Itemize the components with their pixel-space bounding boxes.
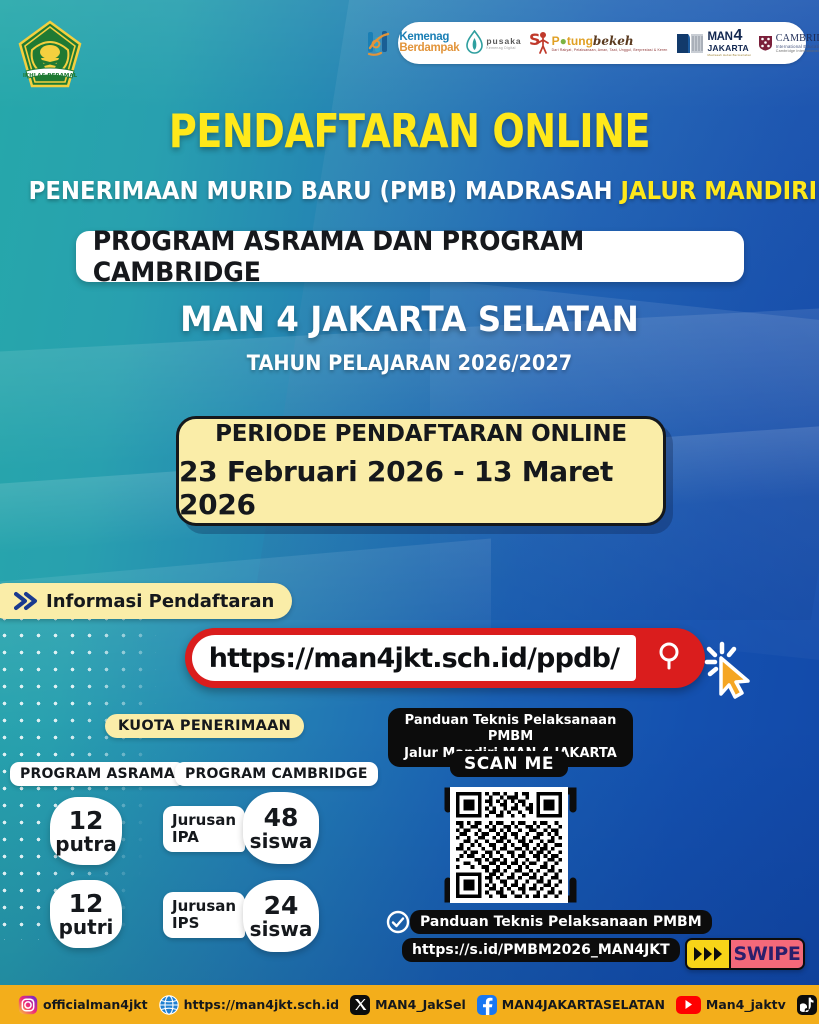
quota-blob-cambridge-ips: 24 siswa [243,880,319,952]
instagram-icon [18,995,38,1015]
pitung-tagline: Dari Rakyat, Pelaksanaan, Aman, Taat, Un… [552,48,668,52]
social-handle-instagram: officialman4jkt [43,997,148,1012]
quota-unit: siswa [250,919,313,939]
open-book-icon [675,29,705,57]
registration-url-bar[interactable]: https://man4jkt.sch.id/ppdb/ [185,628,705,688]
jurusan-tag-ipa: Jurusan IPA [163,806,245,852]
check-circle-icon [386,910,410,939]
pusaka-mark [466,30,483,56]
quota-unit: putra [55,834,116,854]
social-item-tiktok[interactable]: man4jkt.official [797,995,819,1015]
pitung-bekeh-logo: S P●tungbekeh Dari Rakyat, Pelaksanaan, … [529,26,668,60]
url-text: https://man4jkt.sch.id/ppdb/ [209,643,619,674]
social-item-website[interactable]: https://man4jkt.sch.id [159,995,339,1015]
search-icon [654,639,688,678]
cambridge-wordmark: CAMBRIDGE [776,33,819,44]
cambridge-shield-icon [758,35,773,51]
qr-guide-label: Panduan Teknis Pelaksanaan PMBM [410,910,712,934]
man-number: 4 [734,29,743,43]
pitung-wordmark: P●tungbekeh [552,34,668,48]
man-label: MAN [708,31,733,43]
social-handle-youtube: Man4_jaktv [706,997,786,1012]
pusaka-label: pusaka [486,36,521,46]
social-item-facebook[interactable]: MAN4JAKARTASELATAN [477,995,665,1015]
program-tag-cambridge: PROGRAM CAMBRIDGE [175,762,378,786]
program-tag-asrama: PROGRAM ASRAMA [10,762,185,786]
partner-logo-bar: Kemenag Berdampak pusaka Kemenag Digital… [398,22,806,64]
bekeh-word: bekeh [593,34,634,48]
man4-tagline: Madrasah Hebat Bermartabat [708,53,751,57]
social-footer: officialman4jkt https://man4jkt.sch.id [0,985,819,1024]
jakarta-label: JAKARTA [708,43,751,53]
pusaka-logo: pusaka Kemenag Digital [466,26,521,60]
click-cursor-icon [704,640,760,705]
kemenag-berdampak-mark [366,28,396,58]
tiktok-icon [797,995,817,1015]
cambridge-logo: CAMBRIDGE International Education Cambri… [758,26,819,60]
social-item-instagram[interactable]: officialman4jkt [18,995,148,1015]
kemenag-seal-icon: IKHLAS BERAMAL [16,20,84,92]
pitung-figure-icon: S [529,29,549,57]
x-twitter-icon [350,995,370,1015]
page-title: PENDAFTARAN ONLINE [33,104,786,158]
social-item-youtube[interactable]: Man4_jaktv [676,996,786,1014]
pusaka-sub: Kemenag Digital [486,46,521,50]
cambridge-sub2: Cambridge International School [776,49,819,53]
svg-text:IKHLAS BERAMAL: IKHLAS BERAMAL [23,73,78,79]
period-dates: 23 Februari 2026 - 13 Maret 2026 [179,455,663,521]
social-handle-website: https://man4jkt.sch.id [184,997,339,1012]
social-item-x[interactable]: MAN4_JakSel [350,995,466,1015]
man4-jakarta-logo: MAN 4 JAKARTA Madrasah Hebat Bermartabat [675,26,751,60]
quota-heading: KUOTA PENERIMAAN [105,714,304,738]
subtitle-plain: PENERIMAAN MURID BARU (PMB) MADRASAH [29,176,621,205]
url-input[interactable]: https://man4jkt.sch.id/ppdb/ [192,635,636,681]
jurusan-tag-ips: Jurusan IPS [163,892,245,938]
qr-caption-line1: Panduan Teknis Pelaksanaan PMBM [396,713,625,746]
scan-me-badge: SCAN ME [450,751,568,777]
globe-icon [159,995,179,1015]
quota-unit: siswa [250,831,313,851]
school-name: MAN 4 JAKARTA SELATAN [29,300,791,340]
program-banner-label: PROGRAM ASRAMA DAN PROGRAM CAMBRIDGE [93,226,728,288]
quota-number: 12 [69,808,104,834]
registration-info-pill: Informasi Pendaftaran [0,583,292,619]
quota-number: 12 [69,891,104,917]
registration-info-label: Informasi Pendaftaran [46,591,274,612]
svg-text:S: S [529,30,541,49]
social-handle-x: MAN4_JakSel [375,997,466,1012]
search-button[interactable] [636,639,705,678]
swipe-label: SWIPE [731,940,803,968]
swipe-button[interactable]: SWIPE [685,938,805,970]
subtitle-highlight: JALUR MANDIRI [621,176,818,205]
quota-unit: putri [59,917,114,937]
program-banner: PROGRAM ASRAMA DAN PROGRAM CAMBRIDGE [76,231,744,282]
poster-canvas: IKHLAS BERAMAL Kemenag Berdampak [0,0,819,1024]
triple-chevron-right-icon [687,940,731,968]
quota-blob-asrama-putra: 12 putra [50,797,122,865]
quota-number: 24 [264,893,299,919]
quota-blob-cambridge-ipa: 48 siswa [243,792,319,864]
qr-bitmap [450,787,568,903]
youtube-icon [676,996,701,1014]
page-subtitle: PENERIMAAN MURID BARU (PMB) MADRASAH JAL… [29,176,791,205]
period-title: PERIODE PENDAFTARAN ONLINE [215,421,627,447]
kemenag-logo-line2: Berdampak [399,43,459,54]
pitung-word: tung [567,34,593,48]
qr-code-icon[interactable] [440,779,581,911]
kemenag-berdampak-logo: Kemenag Berdampak [366,26,459,60]
quota-blob-asrama-putri: 12 putri [50,880,122,948]
facebook-icon [477,995,497,1015]
double-chevron-right-icon [14,591,40,611]
registration-period-box: PERIODE PENDAFTARAN ONLINE 23 Februari 2… [176,416,666,526]
quota-number: 48 [264,805,299,831]
qr-guide-link[interactable]: https://s.id/PMBM2026_MAN4JKT [402,938,680,962]
academic-year: TAHUN PELAJARAN 2026/2027 [33,351,786,375]
social-handle-facebook: MAN4JAKARTASELATAN [502,997,665,1012]
